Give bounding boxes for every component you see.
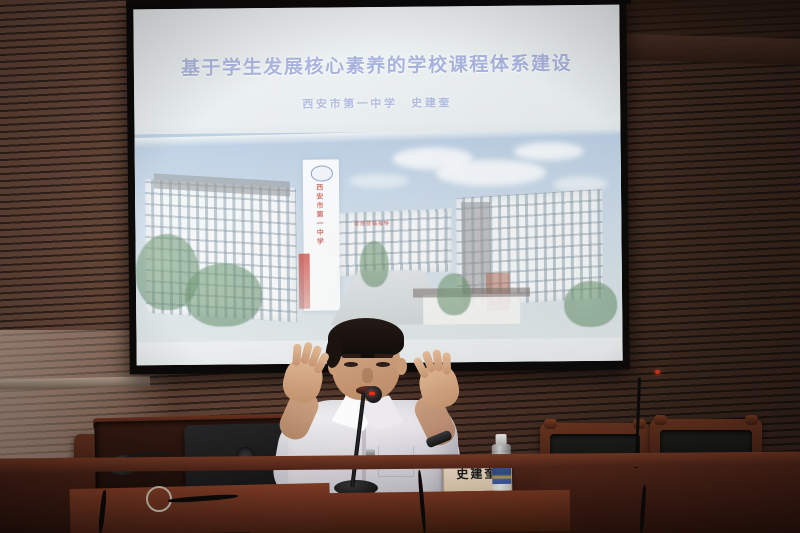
gate-tower-vertical-text: 西安市第一中学 [316, 184, 324, 247]
school-emblem-icon [310, 165, 333, 181]
eyebrow-left [342, 354, 361, 358]
campus-building-center [339, 209, 451, 277]
presentation-slide: 基于学生发展核心素养的学校课程体系建设 西安市第一中学 史建奎 [133, 5, 622, 366]
microphone-secondary-led [655, 370, 660, 374]
chair-knob [544, 419, 557, 429]
microphone-led-indicator [369, 392, 375, 395]
eyebrow-right [374, 354, 393, 358]
slide-subtitle: 西安市第一中学 史建奎 [302, 94, 452, 111]
campus-banner-text: 欢迎莅临指导 [354, 220, 390, 227]
tree [359, 241, 389, 287]
eye-right [376, 362, 390, 367]
finger [442, 352, 451, 374]
eye-left [344, 362, 358, 367]
finger [292, 344, 302, 367]
campus-gatehouse-roof [413, 288, 530, 298]
slide-title-area: 基于学生发展核心素养的学校课程体系建设 西安市第一中学 史建奎 [133, 5, 620, 138]
ear-right [396, 358, 407, 375]
chair-knob [654, 415, 667, 425]
window-grid [339, 209, 451, 277]
tree [437, 274, 471, 316]
slide-title: 基于学生发展核心素养的学校课程体系建设 [181, 48, 573, 80]
hand-left [279, 354, 327, 406]
chair-knob [633, 419, 646, 429]
slide-campus-photo: 西安市第一中学 欢迎莅临指导 [134, 129, 622, 344]
nose [362, 368, 373, 383]
desk-front-left [69, 483, 330, 533]
projection-screen-surface: 基于学生发展核心素养的学校课程体系建设 西安市第一中学 史建奎 [133, 5, 622, 366]
tree [184, 263, 262, 327]
tree [564, 281, 618, 328]
presentation-scene: 基于学生发展核心素养的学校课程体系建设 西安市第一中学 史建奎 [0, 0, 800, 533]
desk-front-right [540, 468, 800, 533]
flag [298, 254, 310, 309]
cloud [349, 173, 409, 188]
bottle-cap [495, 434, 506, 445]
chair-knob [745, 415, 758, 425]
